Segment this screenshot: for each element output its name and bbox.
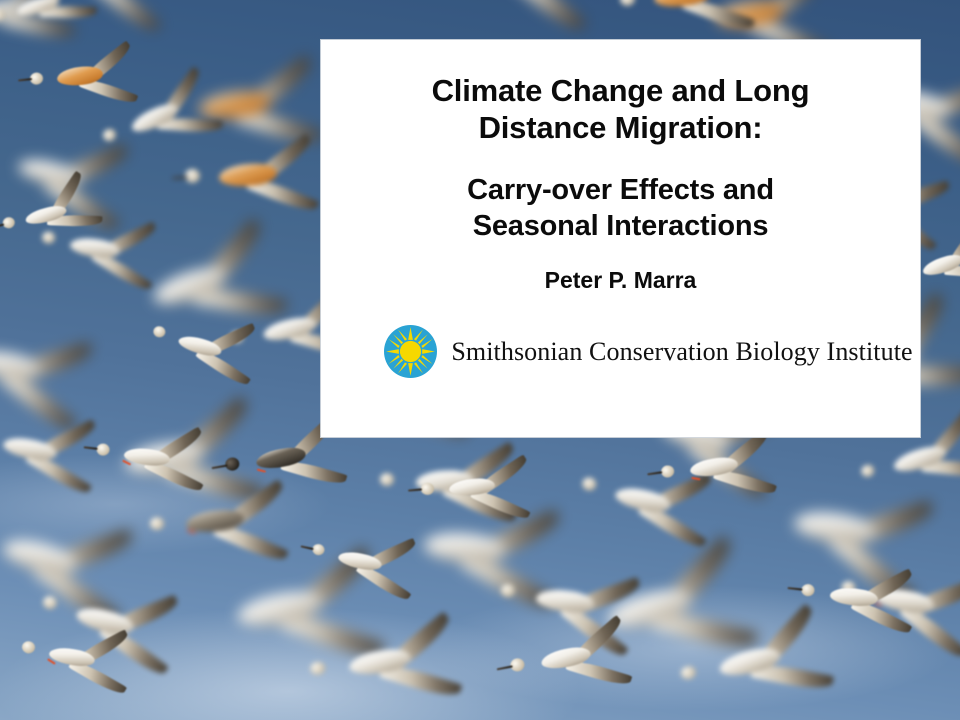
slide-title: Climate Change and Long Distance Migrati… (321, 72, 920, 146)
subtitle-line-1: Carry-over Effects and (321, 172, 920, 208)
title-card: Climate Change and Long Distance Migrati… (321, 40, 920, 437)
title-slide: Climate Change and Long Distance Migrati… (0, 0, 960, 720)
title-line-2: Distance Migration: (321, 109, 920, 146)
institution-logo-lockup: Smithsonian Conservation Biology Institu… (321, 325, 920, 378)
institute-name: Smithsonian Conservation Biology Institu… (451, 337, 912, 367)
title-line-1: Climate Change and Long (321, 72, 920, 109)
subtitle-line-2: Seasonal Interactions (321, 208, 920, 244)
slide-subtitle: Carry-over Effects and Seasonal Interact… (321, 172, 920, 244)
smithsonian-sunburst-icon (384, 325, 437, 378)
author-name: Peter P. Marra (321, 266, 920, 294)
